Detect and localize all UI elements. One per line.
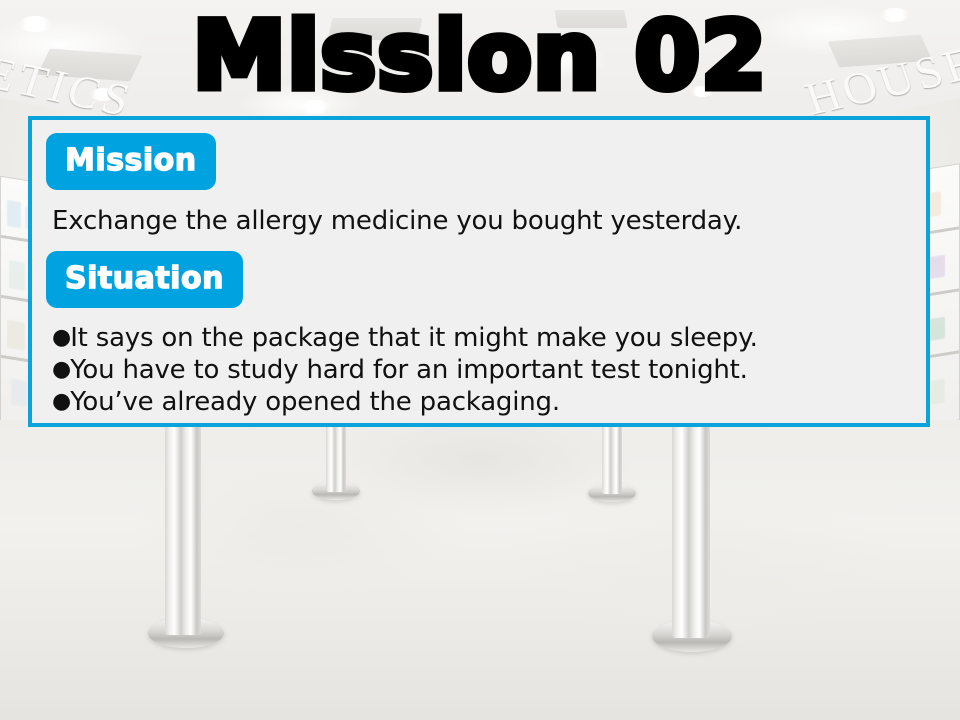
list-item: ●It says on the package that it might ma… bbox=[52, 322, 912, 354]
slide-root: ETICS HOUSE bbox=[0, 0, 960, 720]
chrome-pole bbox=[165, 420, 201, 635]
list-item-label: You’ve already opened the packaging. bbox=[70, 387, 560, 417]
page-title: Mission 02 bbox=[0, 8, 960, 107]
list-item: ●You have to study hard for an important… bbox=[52, 354, 912, 386]
situation-list: ●It says on the package that it might ma… bbox=[46, 322, 912, 418]
chrome-pole bbox=[602, 420, 622, 494]
floor bbox=[0, 420, 960, 720]
chrome-pole bbox=[672, 420, 710, 638]
mission-card: Mission Exchange the allergy medicine yo… bbox=[28, 116, 930, 427]
mission-badge: Mission bbox=[46, 133, 216, 190]
list-item: ●You’ve already opened the packaging. bbox=[52, 386, 912, 418]
mission-text: Exchange the allergy medicine you bought… bbox=[52, 206, 912, 236]
list-item-label: You have to study hard for an important … bbox=[70, 355, 748, 385]
situation-badge: Situation bbox=[46, 251, 243, 308]
list-item-label: It says on the package that it might mak… bbox=[70, 323, 757, 353]
chrome-pole bbox=[326, 420, 346, 492]
bullet-icon: ● bbox=[52, 325, 70, 350]
bullet-icon: ● bbox=[52, 357, 70, 382]
bullet-icon: ● bbox=[52, 389, 70, 414]
